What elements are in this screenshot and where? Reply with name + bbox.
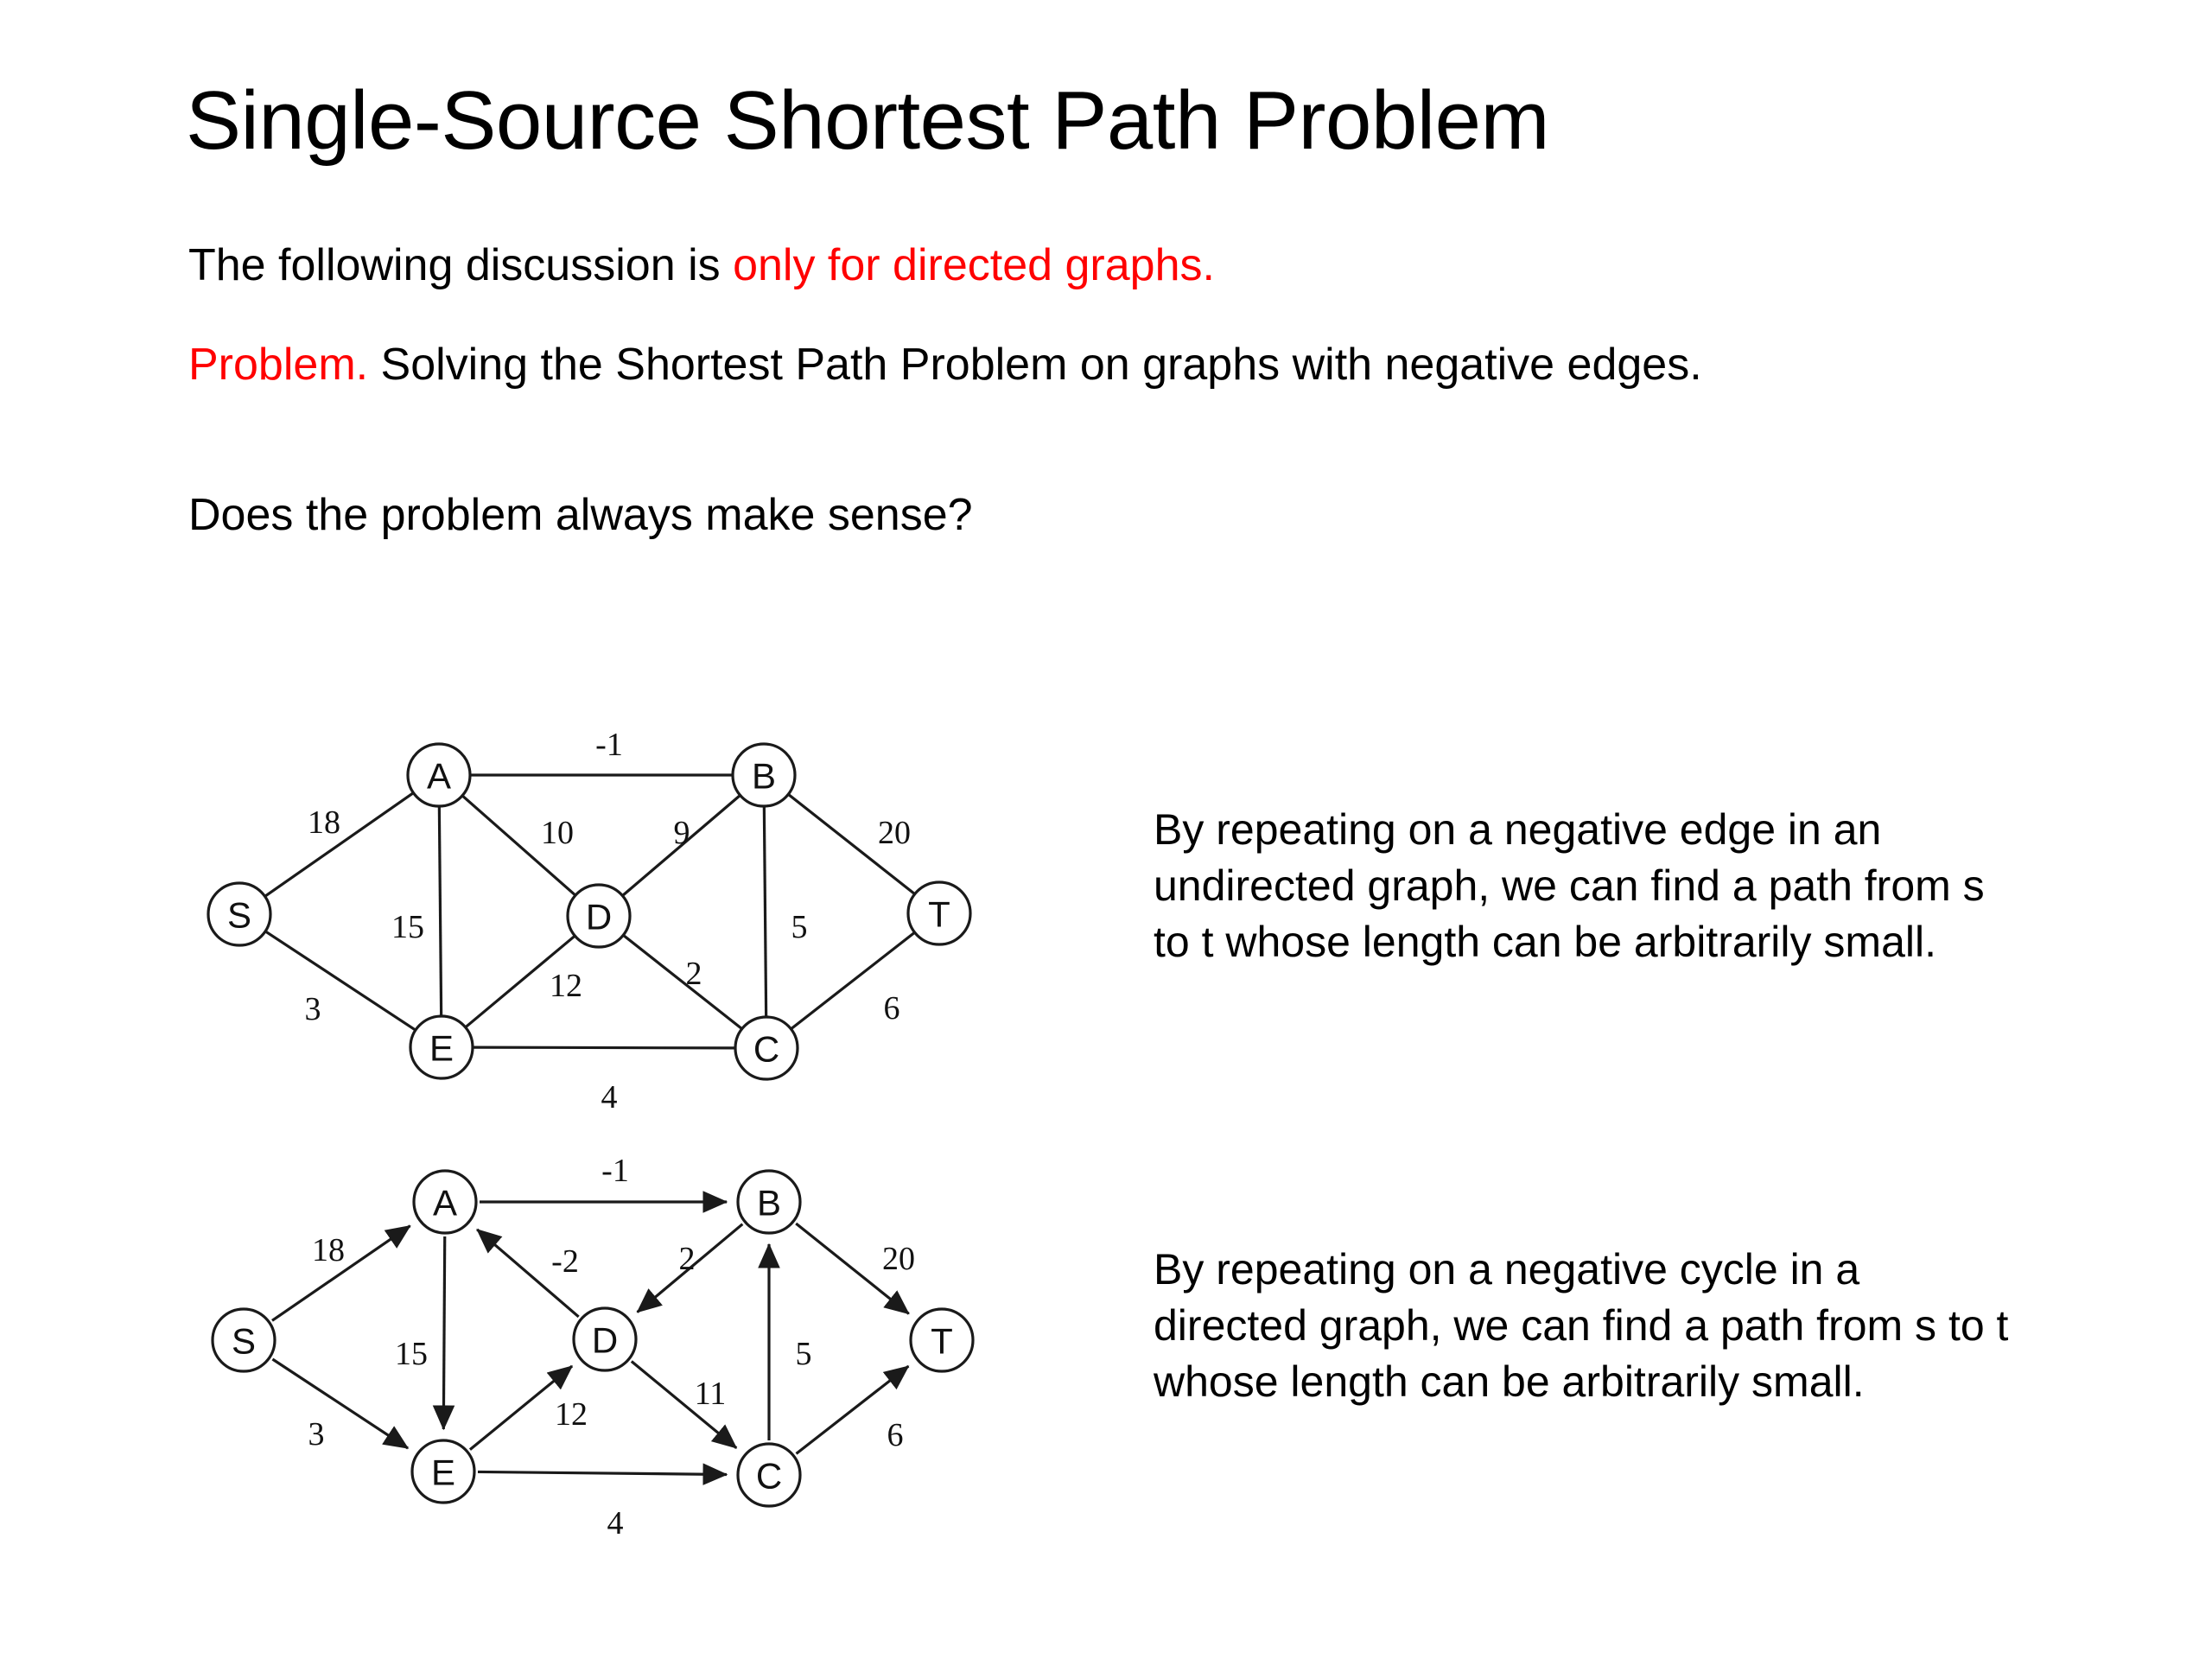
edge-weight-A-E: 15 xyxy=(395,1336,428,1372)
node-label-C: C xyxy=(756,1456,782,1497)
node-label-A: A xyxy=(433,1183,457,1224)
graph-edge-E-C xyxy=(473,1047,735,1048)
graph-edge-E-C xyxy=(478,1471,727,1474)
graph-node-D: D xyxy=(574,1308,636,1370)
graph-edge-B-C xyxy=(764,806,766,1017)
edge-weight-C-T: 6 xyxy=(887,1417,904,1453)
edge-weight-B-D: 2 xyxy=(679,1241,696,1277)
edge-weight-B-T: 20 xyxy=(878,815,911,851)
node-label-T: T xyxy=(928,894,950,935)
edge-weight-D-A: -2 xyxy=(551,1243,579,1280)
node-label-S: S xyxy=(227,895,251,936)
node-label-B: B xyxy=(757,1183,781,1224)
slide-canvas: Single-Source Shortest Path Problem The … xyxy=(0,0,2212,1659)
edge-weight-E-D: 12 xyxy=(555,1396,588,1433)
edge-weight-A-B: -1 xyxy=(601,1153,629,1189)
graph-edge-S-E xyxy=(272,1359,408,1448)
edge-weight-C-B: 5 xyxy=(796,1336,812,1372)
directed-graph: 183-115-22121152046SABDECT xyxy=(213,1153,973,1541)
node-label-D: D xyxy=(586,897,612,938)
graph-node-T: T xyxy=(908,882,970,944)
edge-weight-B-C: 5 xyxy=(791,909,808,945)
node-label-C: C xyxy=(753,1029,779,1070)
edge-weight-A-D: 10 xyxy=(541,815,574,851)
edge-weight-S-E: 3 xyxy=(308,1416,325,1452)
edge-weight-E-C: 4 xyxy=(601,1079,618,1116)
edge-weight-E-C: 4 xyxy=(607,1505,624,1541)
graph-node-A: A xyxy=(408,744,470,806)
edge-weight-D-B: 9 xyxy=(674,815,690,851)
edge-weight-S-E: 3 xyxy=(305,991,321,1027)
node-label-B: B xyxy=(752,756,776,797)
graph-node-T: T xyxy=(911,1309,973,1371)
edge-weight-S-A: 18 xyxy=(308,804,340,841)
graph-edge-D-C xyxy=(623,935,741,1028)
undirected-graph: 183-11510912252046SABDECT xyxy=(208,727,970,1116)
edge-weight-C-T: 6 xyxy=(884,990,900,1027)
graph-node-B: B xyxy=(733,744,795,806)
edge-weight-S-A: 18 xyxy=(312,1232,345,1268)
node-label-E: E xyxy=(429,1028,454,1069)
graph-node-E: E xyxy=(410,1016,473,1078)
node-label-S: S xyxy=(232,1321,256,1362)
graph-node-S: S xyxy=(208,883,270,945)
node-label-E: E xyxy=(431,1452,455,1493)
graph-edge-A-E xyxy=(443,1236,444,1429)
graph-diagrams-layer: 183-11510912252046SABDECT 183-115-221211… xyxy=(0,0,2212,1659)
graph-node-C: C xyxy=(735,1017,798,1079)
graph-node-B: B xyxy=(738,1171,800,1233)
edge-weight-D-C: 2 xyxy=(686,956,702,992)
graph-node-C: C xyxy=(738,1444,800,1506)
graph-node-E: E xyxy=(412,1440,474,1503)
graph-edge-A-E xyxy=(439,806,441,1016)
graph-edge-S-E xyxy=(265,931,416,1030)
node-label-D: D xyxy=(592,1320,618,1361)
node-label-T: T xyxy=(931,1321,953,1362)
graph-node-S: S xyxy=(213,1309,275,1371)
edge-weight-B-T: 20 xyxy=(882,1241,915,1277)
node-label-A: A xyxy=(427,756,451,797)
graph-node-A: A xyxy=(414,1171,476,1233)
edge-weight-D-C: 11 xyxy=(695,1376,727,1412)
graph-node-D: D xyxy=(568,885,630,947)
edge-weight-A-E: 15 xyxy=(391,909,424,945)
edge-weight-D-E: 12 xyxy=(550,968,582,1004)
edge-weight-A-B: -1 xyxy=(595,727,623,763)
